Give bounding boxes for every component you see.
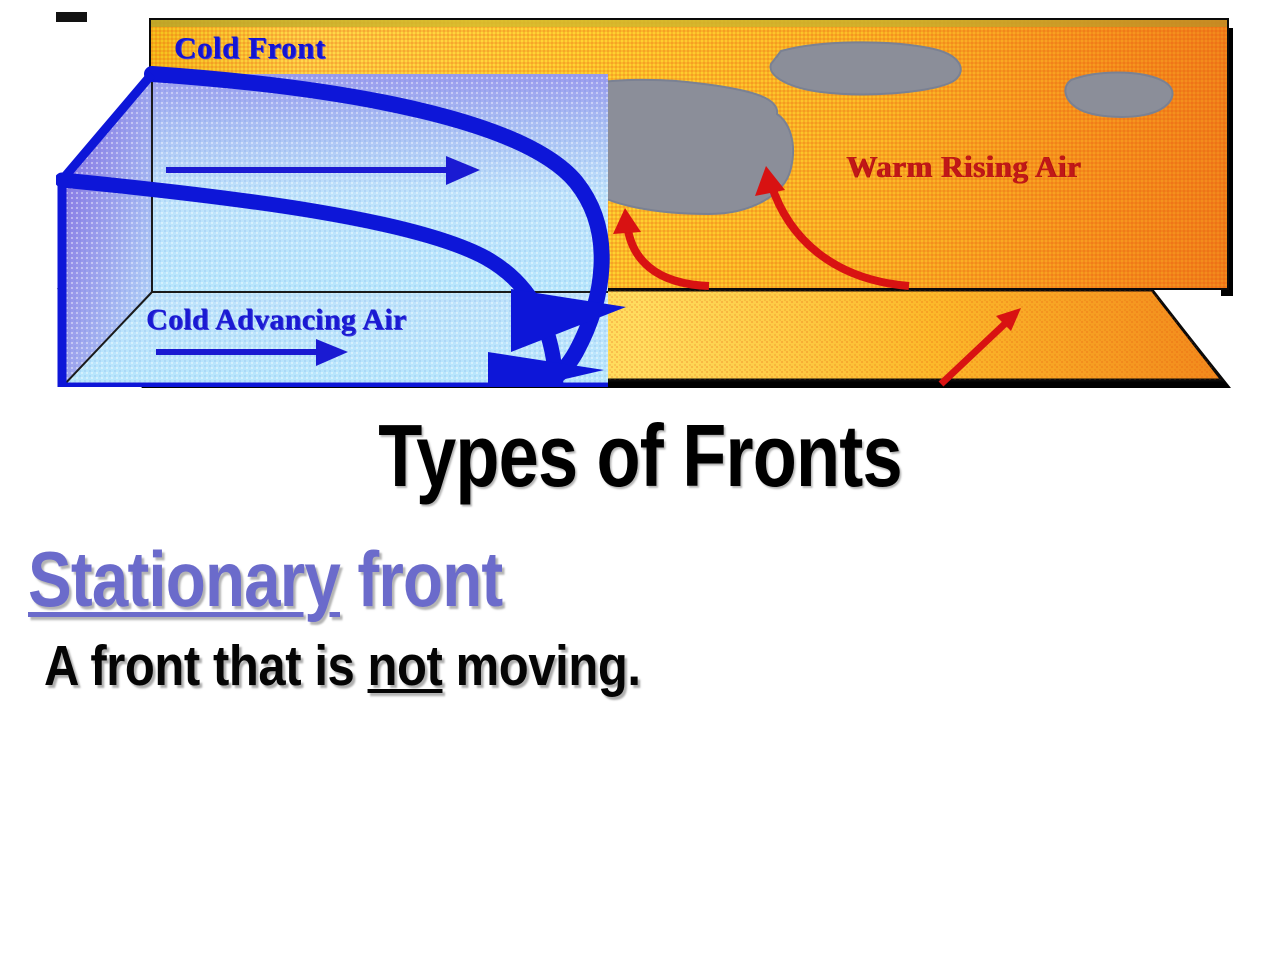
definition-emphasis: not: [368, 634, 443, 698]
page-title: Types of Fronts: [115, 412, 1165, 500]
definition-prefix: A front that is: [44, 634, 368, 698]
label-warm-rising-air: Warm Rising Air: [846, 149, 1081, 185]
diagram-edge-handle[interactable]: [56, 12, 87, 22]
label-cold-advancing-air: Cold Advancing Air: [146, 303, 406, 337]
subheading-underlined-term: Stationary: [28, 535, 340, 623]
slide-canvas: Cold Front Cold Advancing Air Warm Risin…: [0, 0, 1280, 960]
cold-front-diagram: Cold Front Cold Advancing Air Warm Risin…: [56, 12, 1231, 390]
label-cold-front: Cold Front: [174, 30, 326, 66]
definition-text: A front that is not moving.: [44, 638, 641, 695]
subheading-rest: front: [340, 535, 502, 623]
definition-suffix: moving.: [442, 634, 640, 698]
subheading-stationary-front: Stationary front: [28, 540, 502, 618]
